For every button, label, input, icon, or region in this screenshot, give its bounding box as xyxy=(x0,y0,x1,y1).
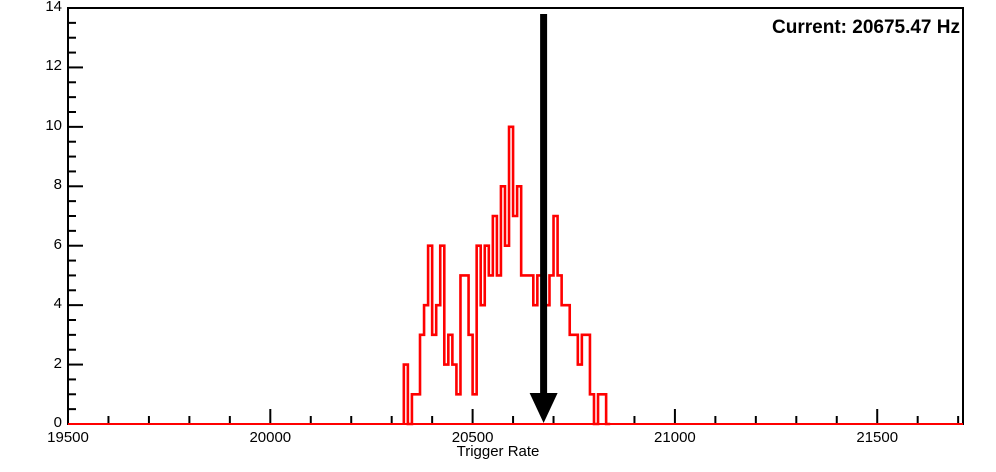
y-tick-label: 10 xyxy=(20,117,62,134)
y-tick-label: 4 xyxy=(20,295,62,312)
y-tick-label: 12 xyxy=(20,57,62,74)
y-tick-label: 14 xyxy=(20,0,62,15)
x-axis-title: Trigger Rate xyxy=(0,443,996,460)
y-tick-label: 8 xyxy=(20,176,62,193)
y-tick-label: 6 xyxy=(20,236,62,253)
current-rate-annotation: Current: 20675.47 Hz xyxy=(772,17,960,39)
chart-root: 02468101214 1950020000205002100021500 Cu… xyxy=(0,0,996,472)
chart-canvas xyxy=(0,0,996,472)
y-tick-label: 2 xyxy=(20,355,62,372)
